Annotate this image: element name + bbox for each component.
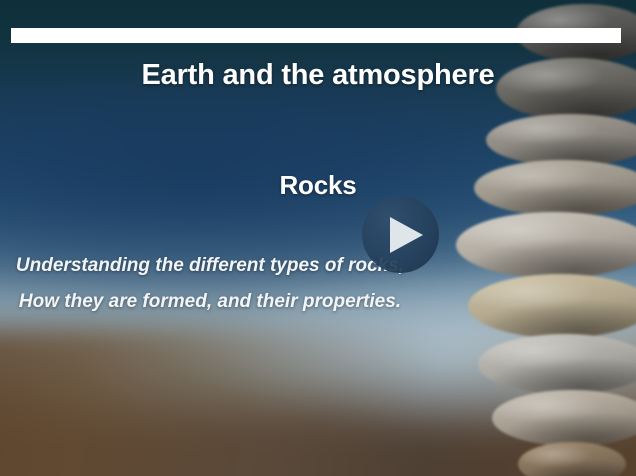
presentation-slide: Earth and the atmosphere Rocks Understan… [0,0,636,476]
slide-description: Understanding the different types of roc… [0,248,420,320]
stone-3 [486,114,636,166]
stone-5 [456,212,636,278]
stone-8 [492,390,636,446]
slide-heading: Rocks [0,170,636,201]
play-button[interactable] [362,196,439,273]
stone-6 [468,274,636,338]
top-white-bar [11,28,621,43]
stone-7 [478,334,636,394]
description-line-2: How they are formed, and their propertie… [0,284,420,320]
stone-9 [518,442,626,476]
slide-title: Earth and the atmosphere [0,59,636,92]
description-line-1: Understanding the different types of roc… [0,248,420,284]
play-triangle-icon [390,217,423,253]
